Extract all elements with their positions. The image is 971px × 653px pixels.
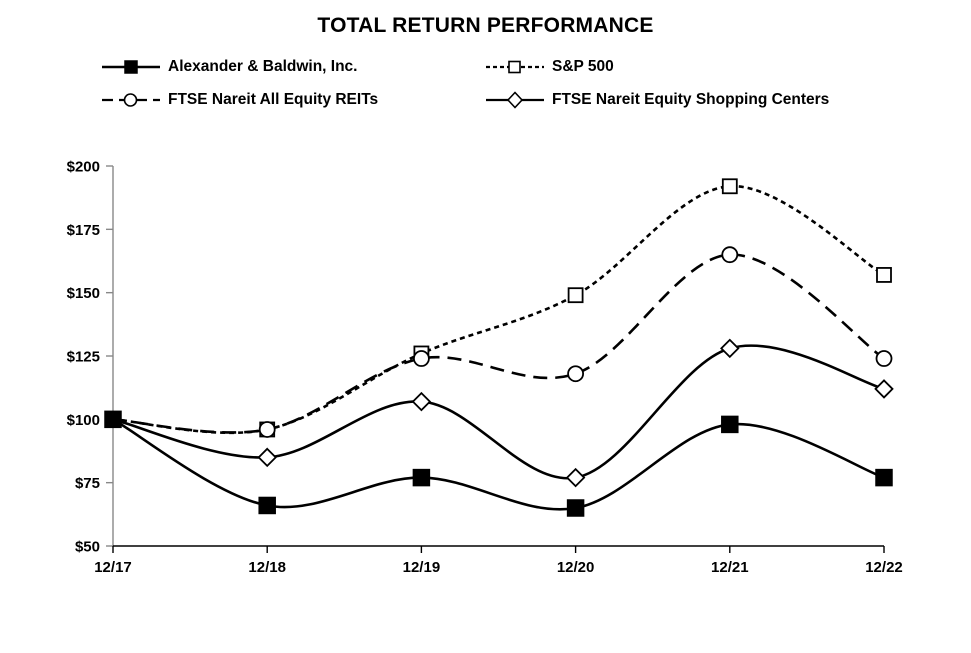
data-point-open-circle-marker [414, 351, 429, 366]
series-markers-ftse-nareit-all-equity-reits [260, 247, 892, 437]
data-point-open-diamond-marker [413, 393, 430, 410]
series-markers-ftse-nareit-equity-shopping-centers [259, 340, 893, 486]
data-point-open-diamond-marker [876, 380, 893, 397]
x-axis-tick-label: 12/21 [711, 559, 749, 576]
series-markers-alexander-baldwin-inc [105, 411, 892, 516]
plot-area: $50$75$100$125$150$175$200 12/1712/1812/… [0, 0, 971, 653]
data-point-open-circle-marker [722, 247, 737, 262]
y-axis: $50$75$100$125$150$175$200 [67, 159, 113, 556]
x-axis-ticks: 12/1712/1812/1912/2012/2112/22 [94, 546, 903, 576]
x-axis-tick-label: 12/18 [248, 559, 286, 576]
x-axis-tick-label: 12/19 [403, 559, 441, 576]
data-point-open-square-marker [723, 179, 737, 193]
x-axis: 12/1712/1812/1912/2012/2112/22 [94, 546, 903, 576]
y-axis-tick-label: $100 [67, 412, 100, 429]
series-path [113, 255, 884, 433]
series-line-s-p-500 [113, 186, 884, 433]
x-axis-tick-label: 12/22 [865, 559, 903, 576]
data-point-open-diamond-marker [259, 449, 276, 466]
y-axis-ticks: $50$75$100$125$150$175$200 [67, 159, 113, 556]
data-point-open-diamond-marker [567, 469, 584, 486]
data-point-filled-square-marker [413, 470, 429, 486]
total-return-performance-chart: TOTAL RETURN PERFORMANCE Alexander & Bal… [0, 0, 971, 653]
data-point-filled-square-marker [876, 470, 892, 486]
data-point-open-diamond-marker [721, 340, 738, 357]
data-point-open-circle-marker [877, 351, 892, 366]
y-axis-tick-label: $200 [67, 159, 100, 176]
series-line-ftse-nareit-equity-shopping-centers [113, 346, 884, 479]
data-point-filled-square-marker [568, 500, 584, 516]
data-point-open-circle-marker [260, 422, 275, 437]
data-point-open-square-marker [569, 288, 583, 302]
x-axis-tick-label: 12/20 [557, 559, 595, 576]
series-path [113, 346, 884, 479]
series-line-ftse-nareit-all-equity-reits [113, 255, 884, 433]
x-axis-tick-label: 12/17 [94, 559, 132, 576]
series-layer [105, 179, 893, 516]
data-point-open-square-marker [877, 268, 891, 282]
data-point-filled-square-marker [105, 411, 121, 427]
data-point-filled-square-marker [259, 497, 275, 513]
series-markers-s-p-500 [260, 179, 891, 436]
y-axis-tick-label: $175 [67, 222, 100, 239]
data-point-filled-square-marker [722, 416, 738, 432]
y-axis-tick-label: $150 [67, 285, 100, 302]
y-axis-tick-label: $75 [75, 475, 100, 492]
y-axis-tick-label: $125 [67, 349, 100, 366]
series-path [113, 186, 884, 433]
y-axis-tick-label: $50 [75, 539, 100, 556]
data-point-open-circle-marker [568, 366, 583, 381]
